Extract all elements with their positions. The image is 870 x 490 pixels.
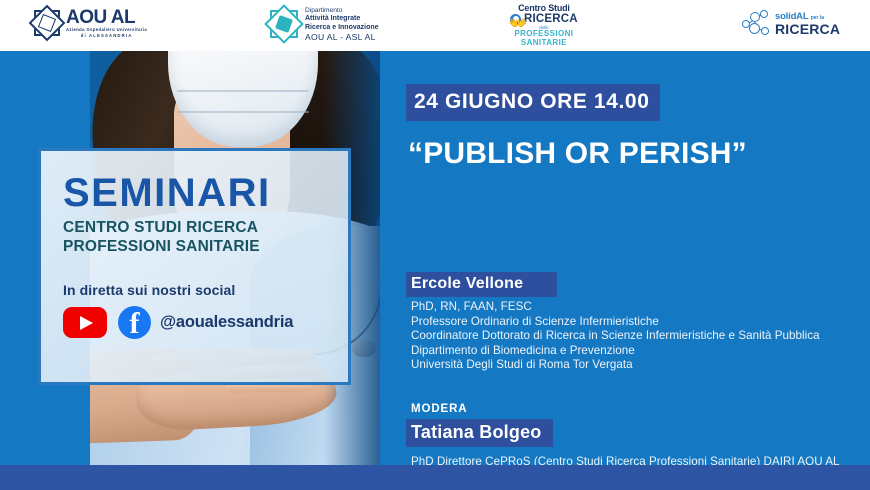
speaker-credential-line: Università Degli Studi di Roma Tor Verga… [411, 358, 870, 373]
event-date-badge: 24 GIUGNO ORE 14.00 [406, 84, 660, 121]
logo-aou-al-title: AOU AL [66, 8, 147, 27]
footer-bar [0, 465, 870, 490]
logo-dipartimento-line4: AOU AL - ASL AL [305, 33, 379, 41]
header-logo-bar: AOU AL Azienda Ospedaliero Universitaria… [0, 0, 870, 51]
logo-csr-line4b: SANITARIE [510, 39, 578, 48]
card-subtitle-line1: CENTRO STUDI RICERCA [63, 218, 348, 237]
logo-aou-al: AOU AL Azienda Ospedaliero Universitaria… [34, 8, 147, 38]
speaker-credential-line: Professore Ordinario di Scienze Infermie… [411, 315, 870, 330]
speaker-name-badge: Ercole Vellone [406, 272, 557, 297]
facebook-glyph: f [118, 308, 151, 339]
logo-dipartimento-line3: Ricerca e Innovazione [305, 24, 379, 32]
logo-solidal-line2: RICERCA [775, 22, 840, 36]
logo-solidal-line1: solidAL per la [775, 11, 840, 22]
csr-hand-icon: 👐 [508, 16, 528, 33]
speaker-credential-line: Coordinatore Dottorato di Ricerca in Sci… [411, 329, 870, 344]
event-details: 24 GIUGNO ORE 14.00 “PUBLISH OR PERISH” … [406, 51, 870, 468]
logo-dipartimento: Dipartimento Attività Integrate Ricerca … [270, 7, 379, 42]
dipartimento-star-icon [270, 10, 298, 38]
logo-dipartimento-line1: Dipartimento [305, 7, 379, 15]
event-title: “PUBLISH OR PERISH” [408, 137, 870, 171]
card-title: SEMINARI [63, 173, 348, 213]
logo-csr-line1: Centro Studi [510, 3, 578, 13]
card-live-label: In diretta sui nostri social [63, 282, 348, 298]
speaker-credentials: PhD, RN, FAAN, FESC Professore Ordinario… [411, 300, 870, 373]
moderator-name-badge: Tatiana Bolgeo [406, 419, 553, 447]
facebook-icon[interactable]: f [118, 306, 151, 339]
speaker-credential-line: PhD, RN, FAAN, FESC [411, 300, 870, 315]
social-handle: @aoualessandria [160, 313, 293, 332]
logo-centro-studi-ricerca: Centro Studi RICERCA delle PROFESSIONI S… [510, 3, 578, 47]
youtube-icon[interactable] [63, 307, 107, 338]
card-subtitle-line2: PROFESSIONI SANITARIE [63, 237, 348, 256]
social-links: f @aoualessandria [63, 306, 348, 339]
speaker-credential-line: Dipartimento di Biomedicina e Prevenzion… [411, 344, 870, 359]
logo-aou-al-line2: di ALESSANDRIA [66, 33, 147, 39]
aou-al-star-icon [34, 10, 60, 36]
solidal-network-icon [742, 10, 772, 36]
logo-solidal-ricerca: solidAL per la RICERCA [742, 10, 840, 36]
logo-csr-line2: RICERCA [524, 13, 578, 25]
logo-aou-al-line1: Azienda Ospedaliero Universitaria [66, 27, 147, 33]
moderator-label: MODERA [411, 403, 870, 415]
seminar-info-card: SEMINARI CENTRO STUDI RICERCA PROFESSION… [38, 148, 351, 385]
logo-dipartimento-line2: Attività Integrate [305, 15, 379, 23]
